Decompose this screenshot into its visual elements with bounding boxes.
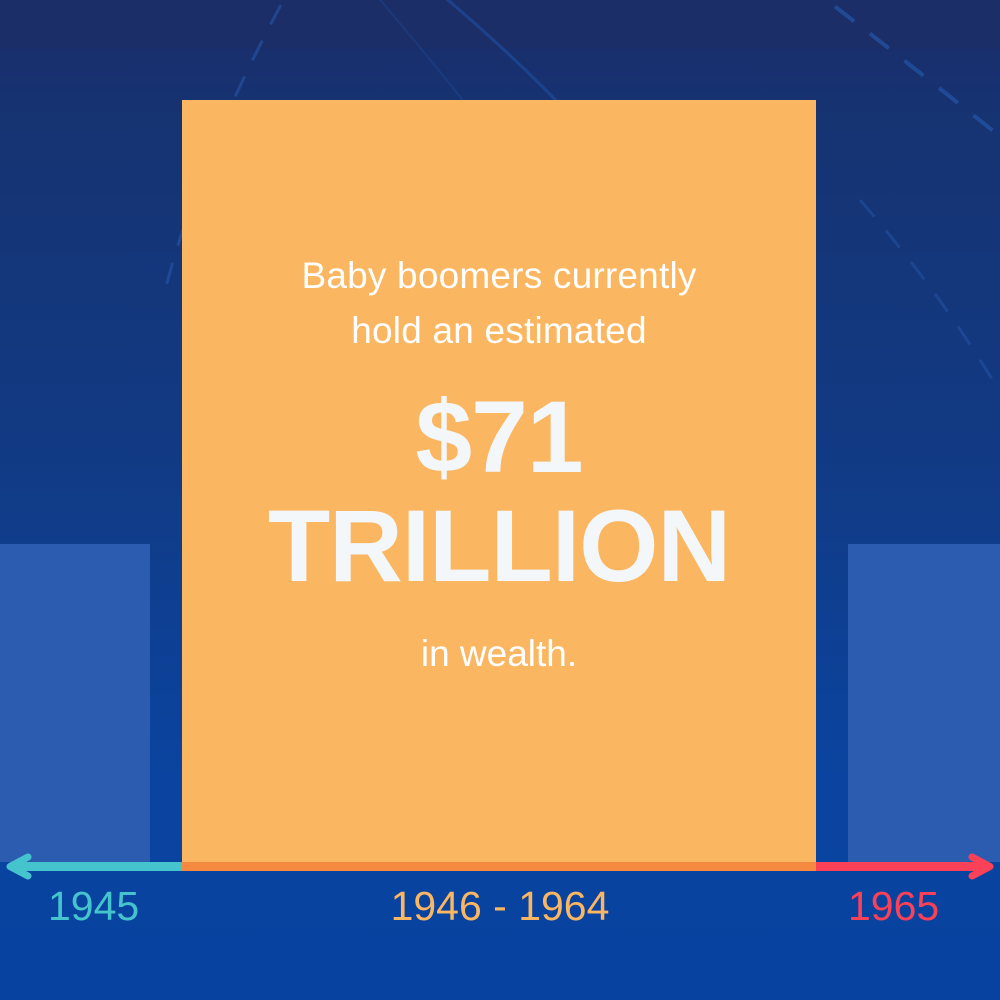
- arrow-right-icon: [968, 852, 998, 881]
- stat-card-unit: TRILLION: [268, 494, 730, 598]
- timeline-axis-right-segment: [816, 862, 982, 871]
- timeline-axis-left-segment: [18, 862, 184, 871]
- timeline-pre-boomer-bar: [0, 544, 150, 862]
- stat-card-amount: $71: [415, 386, 582, 488]
- stat-card-lead-line-2: hold an estimated: [301, 303, 696, 358]
- stat-card: Baby boomers currently hold an estimated…: [182, 100, 816, 862]
- stat-card-lead: Baby boomers currently hold an estimated: [301, 248, 696, 358]
- stat-card-tail: in wealth.: [421, 628, 577, 680]
- background-top-band: [0, 0, 1000, 48]
- arrow-left-icon: [2, 852, 32, 881]
- infographic-canvas: Baby boomers currently hold an estimated…: [0, 0, 1000, 1000]
- stat-card-lead-line-1: Baby boomers currently: [301, 248, 696, 303]
- timeline-label-year-end: 1965: [848, 886, 939, 927]
- timeline-axis-boomer-segment: [182, 862, 816, 871]
- timeline-post-boomer-bar: [848, 544, 1000, 862]
